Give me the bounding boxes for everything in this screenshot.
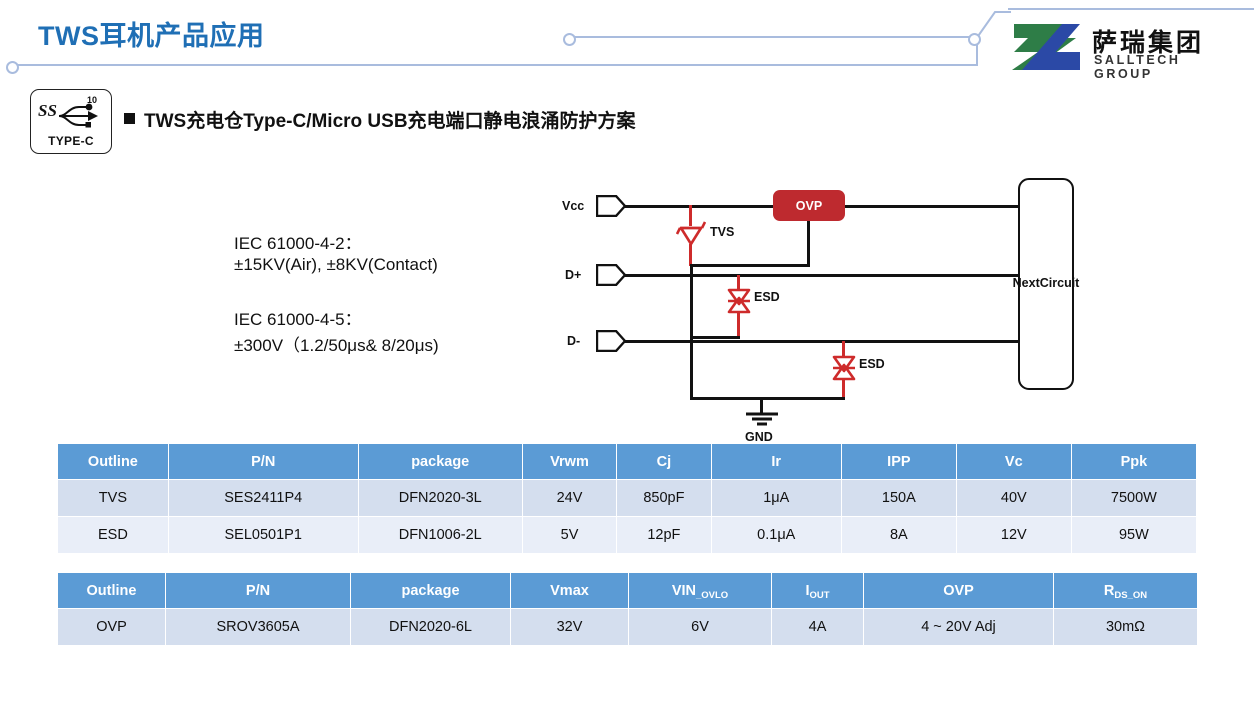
header-deco-line-bottom — [16, 64, 978, 66]
superspeed-label: SS — [38, 101, 57, 121]
th-cj: Cj — [617, 444, 711, 480]
table-row: OVP SROV3605A DFN2020-6L 32V 6V 4A 4 ~ 2… — [58, 609, 1198, 646]
iec-esd-value: ±15KV(Air), ±8KV(Contact) — [234, 255, 438, 275]
esd-diode-2-icon — [830, 352, 858, 389]
cell-ppk: 7500W — [1071, 480, 1196, 517]
gnd-label: GND — [745, 430, 773, 444]
th-ipp: IPP — [841, 444, 956, 480]
th-vin-base: VIN — [672, 583, 696, 599]
cell-package: DFN2020-6L — [351, 609, 511, 646]
cell-ppk: 95W — [1071, 517, 1196, 554]
th-ir: Ir — [711, 444, 841, 480]
tvs-diode-icon — [676, 220, 706, 253]
cell-pn: SROV3605A — [166, 609, 351, 646]
cell-package: DFN2020-3L — [358, 480, 522, 517]
cell-outline: ESD — [58, 517, 169, 554]
table-row: ESD SEL0501P1 DFN1006-2L 5V 12pF 0.1μA 8… — [58, 517, 1197, 554]
cell-outline: TVS — [58, 480, 169, 517]
wire-vcc-right — [843, 205, 1023, 208]
th-vrwm: Vrwm — [522, 444, 616, 480]
cell-vrwm: 24V — [522, 480, 616, 517]
cell-ir: 1μA — [711, 480, 841, 517]
th-outline: Outline — [58, 444, 169, 480]
th-package: package — [358, 444, 522, 480]
wire-dminus — [624, 340, 1023, 343]
table-row: TVS SES2411P4 DFN2020-3L 24V 850pF 1μA 1… — [58, 480, 1197, 517]
th-rdson-base: R — [1104, 583, 1114, 599]
cell-cj: 850pF — [617, 480, 711, 517]
cell-vrwm: 5V — [522, 517, 616, 554]
cell-pn: SEL0501P1 — [168, 517, 358, 554]
iec-surge-title: IEC 61000-4-5： — [234, 305, 362, 330]
wire-ground-bus — [690, 266, 693, 400]
th-ppk: Ppk — [1071, 444, 1196, 480]
ovp-block: OVP — [773, 190, 845, 221]
iec-surge-value: ±300V（1.2/50μs& 8/20μs) — [234, 331, 439, 356]
esd-label-2: ESD — [859, 357, 885, 371]
header-deco-node-left — [6, 61, 19, 74]
th-iout: IOUT — [772, 573, 864, 609]
connector-vcc-icon — [596, 195, 626, 217]
tvs-label: TVS — [710, 225, 734, 239]
cell-iout: 4A — [772, 609, 864, 646]
cell-cj: 12pF — [617, 517, 711, 554]
header-deco-node-right — [968, 33, 981, 46]
th-pn: P/N — [166, 573, 351, 609]
typec-badge: SS 10 TYPE-C — [30, 89, 112, 154]
pin-label-vcc: Vcc — [562, 199, 584, 213]
page-title: TWS耳机产品应用 — [38, 14, 265, 53]
usb-speed-superscript: 10 — [87, 95, 97, 105]
header-deco-diagonal — [975, 8, 1011, 40]
typec-label: TYPE-C — [31, 134, 111, 148]
connector-dplus-icon — [596, 264, 626, 286]
cell-ipp: 8A — [841, 517, 956, 554]
pin-label-dminus: D- — [567, 334, 580, 348]
th-pn: P/N — [168, 444, 358, 480]
th-vin-ovlo: VIN_OVLO — [629, 573, 772, 609]
circuit-diagram: Vcc D+ D- TVS ESD — [540, 168, 1100, 423]
section-bullet-icon — [124, 113, 135, 124]
section-subtitle: TWS充电仓Type-C/Micro USB充电端口静电浪涌防护方案 — [144, 106, 636, 133]
cell-package: DFN1006-2L — [358, 517, 522, 554]
header-deco-node-mid — [563, 33, 576, 46]
th-outline: Outline — [58, 573, 166, 609]
th-iout-sub: OUT — [809, 590, 829, 601]
esd-label-1: ESD — [754, 290, 780, 304]
brand-name-en: SALLTECH GROUP — [1094, 53, 1242, 81]
cell-ipp: 150A — [841, 480, 956, 517]
th-vin-sub: _OVLO — [696, 590, 728, 601]
th-vc: Vc — [956, 444, 1071, 480]
connector-dminus-icon — [596, 330, 626, 352]
table-ovp-header-row: Outline P/N package Vmax VIN_OVLO IOUT O… — [58, 573, 1198, 609]
esd-diode-1-icon — [725, 285, 753, 322]
th-vmax: Vmax — [511, 573, 629, 609]
cell-ovp: 4 ~ 20V Adj — [864, 609, 1054, 646]
cell-vin-ovlo: 6V — [629, 609, 772, 646]
logo-mark-icon — [1010, 22, 1084, 72]
brand-logo: 萨瑞集团 SALLTECH GROUP — [1010, 22, 1242, 74]
header-deco-line-topright — [1008, 8, 1254, 10]
table-tvs-header-row: Outline P/N package Vrwm Cj Ir IPP Vc Pp… — [58, 444, 1197, 480]
next-circuit-block: Next Circuit — [1018, 178, 1074, 390]
cell-outline: OVP — [58, 609, 166, 646]
th-rdson-sub: DS_ON — [1114, 590, 1147, 601]
wire-vcc — [624, 205, 776, 208]
usb-trident-icon — [57, 102, 101, 128]
header-deco-line-top — [572, 36, 978, 38]
th-package: package — [351, 573, 511, 609]
cell-ir: 0.1μA — [711, 517, 841, 554]
wire-ovp-feedback-v — [807, 221, 810, 267]
wire-esd1-to-bus — [690, 336, 740, 339]
cell-vc: 12V — [956, 517, 1071, 554]
wire-dplus — [624, 274, 1023, 277]
next-circuit-line1: Next — [1013, 276, 1040, 292]
cell-rdson: 30mΩ — [1054, 609, 1198, 646]
cell-pn: SES2411P4 — [168, 480, 358, 517]
wire-ground-rail — [690, 397, 845, 400]
table-ovp: Outline P/N package Vmax VIN_OVLO IOUT O… — [57, 572, 1198, 646]
th-rdson: RDS_ON — [1054, 573, 1198, 609]
pin-label-dplus: D+ — [565, 268, 581, 282]
cell-vc: 40V — [956, 480, 1071, 517]
wire-ovp-feedback-h — [690, 264, 810, 267]
cell-vmax: 32V — [511, 609, 629, 646]
iec-esd-title: IEC 61000-4-2： — [234, 229, 362, 254]
table-tvs: Outline P/N package Vrwm Cj Ir IPP Vc Pp… — [57, 443, 1197, 554]
next-circuit-line2: Circuit — [1040, 276, 1080, 292]
th-ovp: OVP — [864, 573, 1054, 609]
